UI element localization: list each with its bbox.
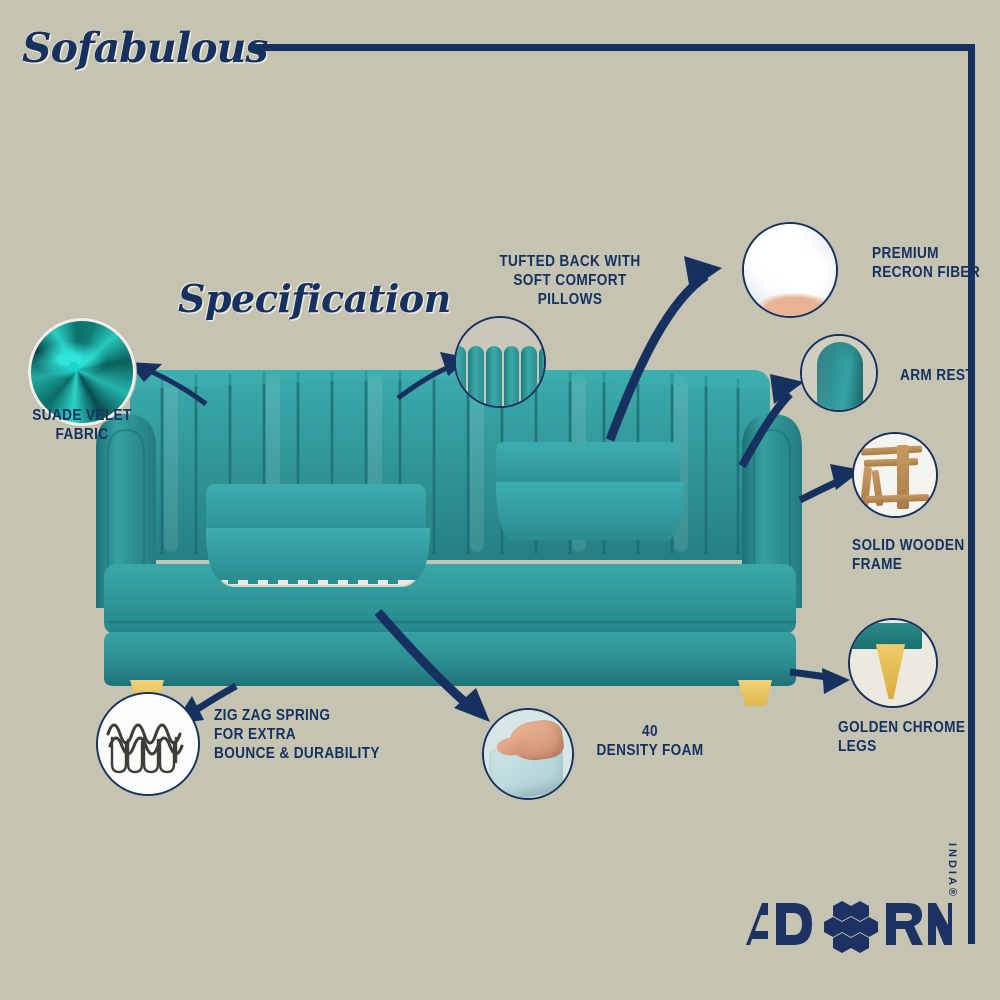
feature-image-golden-chrome-legs[interactable] bbox=[848, 618, 938, 708]
sofa-illustration bbox=[78, 336, 818, 706]
zigzag-spring-photo bbox=[98, 694, 198, 794]
pillow-lumbar-left bbox=[206, 484, 430, 580]
header-rule-vertical bbox=[968, 44, 975, 944]
feature-image-tufted-back[interactable] bbox=[454, 316, 546, 408]
golden-leg-closeup bbox=[850, 620, 936, 706]
header-rule-horizontal bbox=[253, 44, 975, 51]
sofa-seat-cushion bbox=[104, 564, 796, 634]
feature-label-tufted-back: TUFTED BACK WITH SOFT COMFORT PILLOWS bbox=[489, 252, 651, 309]
feature-label-premium-recron-fiber: PREMIUM RECRON FIBER bbox=[872, 244, 986, 282]
foam-hand-press-photo bbox=[484, 710, 572, 798]
feature-image-density-foam[interactable] bbox=[482, 708, 574, 800]
feature-label-solid-wooden-frame: SOLID WOODEN FRAME bbox=[852, 536, 975, 574]
tufted-back-closeup bbox=[456, 318, 544, 406]
feature-image-solid-wooden-frame[interactable] bbox=[852, 432, 938, 518]
feature-label-zig-zag-spring: ZIG ZAG SPRING FOR EXTRA BOUNCE & DURABI… bbox=[214, 706, 390, 763]
page-title: Specification bbox=[178, 276, 451, 321]
recron-fiber-closeup bbox=[744, 224, 836, 316]
brand-title: Sofabulous bbox=[22, 24, 267, 72]
feature-image-premium-recron-fiber[interactable] bbox=[742, 222, 838, 318]
pillow-lumbar-right bbox=[496, 442, 684, 540]
feature-label-arm-rest: ARM REST bbox=[900, 366, 997, 385]
infographic-canvas: Sofabulous Specification bbox=[0, 0, 1000, 1000]
sofa-base bbox=[104, 632, 796, 686]
feature-label-suade-velet-fabric: SUADE VELET FABRIC bbox=[19, 406, 146, 444]
adorn-wordmark bbox=[742, 893, 952, 955]
feature-label-density-foam: 40 DENSITY FOAM bbox=[588, 722, 711, 760]
wooden-frame-photo bbox=[854, 434, 936, 516]
feature-image-arm-rest[interactable] bbox=[800, 334, 878, 412]
feature-image-zig-zag-spring[interactable] bbox=[96, 692, 200, 796]
feature-label-golden-chrome-legs: GOLDEN CHROME LEGS bbox=[838, 718, 970, 756]
logo-country-label: INDIA® bbox=[946, 843, 958, 899]
adorn-india-logo[interactable]: INDIA® bbox=[742, 893, 952, 955]
arm-rest-closeup bbox=[802, 336, 876, 410]
honeycomb-hexagon-cluster bbox=[824, 901, 878, 953]
